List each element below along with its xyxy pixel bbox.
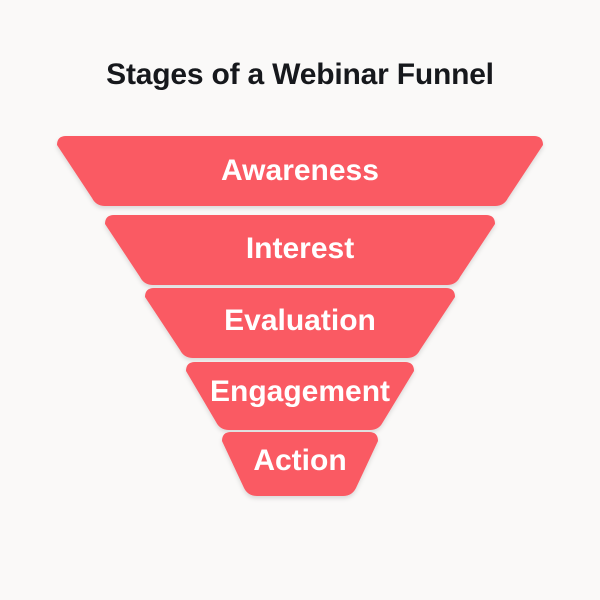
funnel-segment-action[interactable]: Action [222, 432, 378, 496]
funnel-segment-interest[interactable]: Interest [105, 215, 495, 285]
funnel-segment-evaluation-label: Evaluation [224, 304, 376, 337]
funnel-segment-evaluation[interactable]: Evaluation [145, 288, 455, 358]
funnel-svg: Awareness Interest Evaluation Engagement… [0, 0, 600, 600]
funnel-segment-action-label: Action [253, 444, 346, 477]
funnel-segment-awareness[interactable]: Awareness [57, 136, 543, 206]
funnel-diagram-canvas: Stages of a Webinar Funnel Awareness Int… [0, 0, 600, 600]
funnel-segment-awareness-label: Awareness [221, 154, 379, 187]
funnel-chart: Awareness Interest Evaluation Engagement… [0, 0, 600, 600]
funnel-segment-engagement[interactable]: Engagement [186, 362, 414, 430]
funnel-segment-interest-label: Interest [246, 232, 354, 265]
funnel-segment-engagement-label: Engagement [210, 375, 390, 408]
